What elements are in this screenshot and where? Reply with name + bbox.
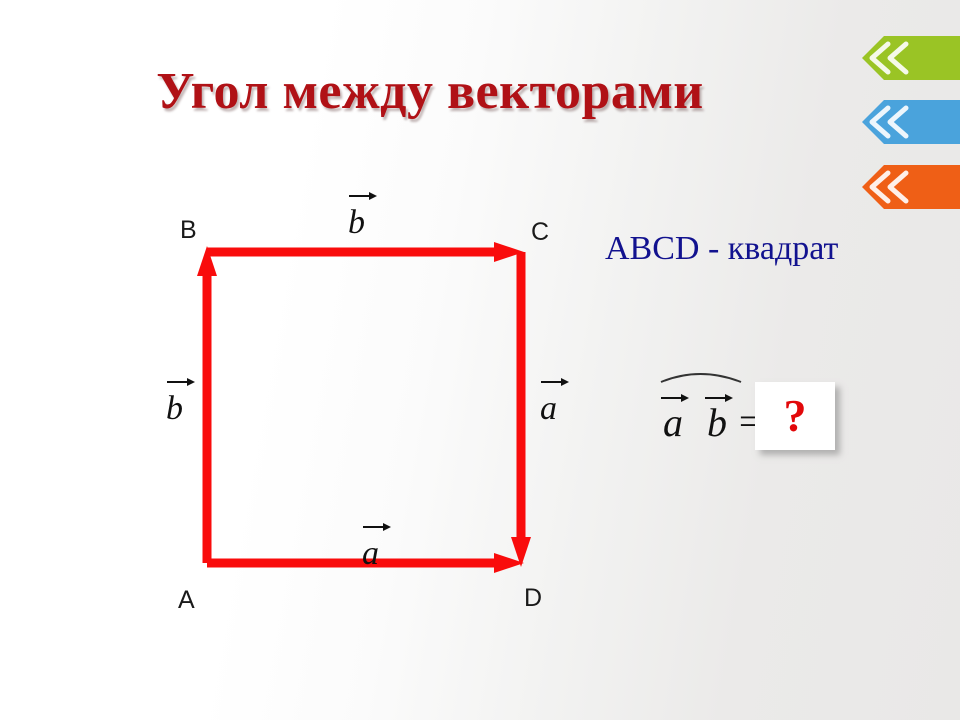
vector-label-b-top: b bbox=[348, 206, 365, 240]
vertex-label-b: B bbox=[180, 218, 197, 243]
formula-vector-b: b bbox=[707, 400, 727, 445]
angle-formula: a b = ? bbox=[655, 360, 855, 460]
slide-canvas: Угол между векторами bbox=[0, 0, 960, 720]
over-arrow-icon bbox=[348, 189, 378, 201]
vector-label-a-bottom: a bbox=[362, 537, 379, 571]
answer-box[interactable]: ? bbox=[755, 382, 835, 450]
vertex-label-c: C bbox=[531, 220, 549, 245]
vector-arrow-cd bbox=[511, 252, 531, 567]
formula-vector-a: a bbox=[663, 400, 683, 445]
vertex-label-a: A bbox=[178, 588, 195, 613]
vector-label-text: b bbox=[166, 390, 183, 427]
vector-label-a-right: a bbox=[540, 392, 557, 426]
vector-arrow-bc bbox=[207, 242, 524, 262]
answer-question-mark: ? bbox=[755, 382, 835, 450]
over-arrow-icon bbox=[166, 375, 196, 387]
vector-label-text: b bbox=[348, 204, 365, 241]
vector-arrow-ab bbox=[197, 246, 217, 563]
vector-label-b-left: b bbox=[166, 392, 183, 426]
vector-label-text: a bbox=[362, 535, 379, 572]
abcd-square-note: ABCD - квадрат bbox=[605, 230, 838, 268]
over-arrow-icon bbox=[362, 520, 392, 532]
vertex-label-d: D bbox=[524, 586, 542, 611]
vector-label-text: a bbox=[540, 390, 557, 427]
over-arrow-icon bbox=[540, 375, 570, 387]
